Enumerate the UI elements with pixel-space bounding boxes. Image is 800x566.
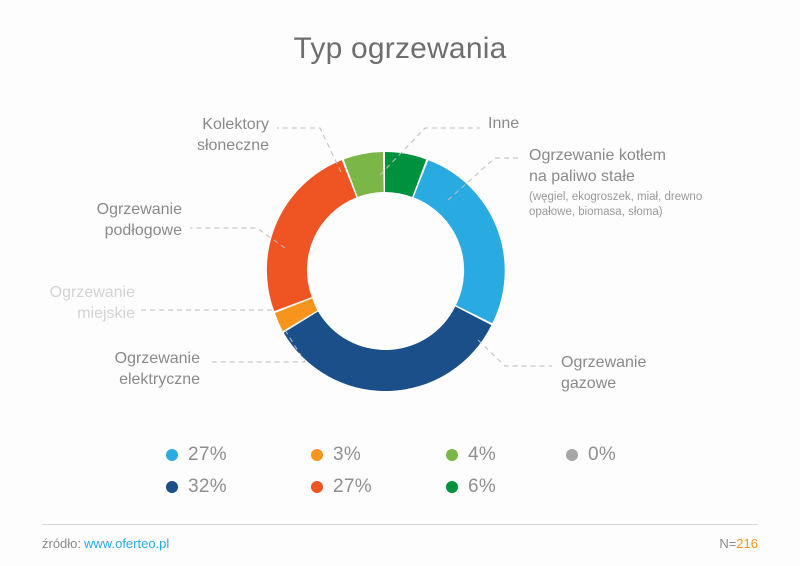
footer: źródło:www.oferteo.pl N=216 — [42, 536, 758, 551]
donut-chart — [250, 140, 520, 400]
source-label: źródło: — [42, 536, 81, 551]
callout-gazowe-line1: Ogrzewanie — [561, 354, 646, 371]
legend-value: 27% — [333, 476, 372, 498]
legend: 27% 32% 3% 27% 4% 6% 0% — [166, 444, 636, 506]
sample-size-label: N= — [719, 536, 736, 551]
slice-podlogowe[interactable] — [267, 160, 357, 311]
footer-divider — [42, 524, 758, 525]
legend-item-0[interactable]: 27% — [166, 444, 227, 466]
legend-value: 4% — [468, 444, 496, 466]
legend-item-6[interactable]: 0% — [566, 444, 616, 466]
legend-item-3[interactable]: 27% — [311, 476, 372, 498]
slice-kotlem-paliwo-stale[interactable] — [414, 160, 505, 323]
callout-kolektory-line2: słoneczne — [197, 137, 269, 154]
legend-value: 27% — [188, 444, 227, 466]
callout-podlogowe-line2: podłogowe — [105, 222, 182, 239]
legend-item-1[interactable]: 32% — [166, 476, 227, 498]
legend-item-2[interactable]: 3% — [311, 444, 361, 466]
legend-dot-icon — [311, 481, 323, 493]
callout-kolektory-line1: Kolektory — [202, 116, 269, 133]
legend-dot-icon — [166, 449, 178, 461]
legend-dot-icon — [446, 449, 458, 461]
legend-dot-icon — [446, 481, 458, 493]
callout-kotlem-line1: Ogrzewanie kotłem — [529, 147, 666, 164]
legend-value: 0% — [588, 444, 616, 466]
donut-svg — [250, 140, 520, 400]
callout-kotlem-paliwo-stale: Ogrzewanie kotłem na paliwo stałe (węgie… — [529, 145, 702, 220]
callout-elektryczne-line1: Ogrzewanie — [115, 350, 200, 367]
legend-item-4[interactable]: 4% — [446, 444, 496, 466]
callout-inne-line1: Inne — [488, 115, 519, 132]
callout-kotlem-sub1: (węgiel, ekogroszek, miał, drewno — [529, 190, 702, 205]
legend-value: 3% — [333, 444, 361, 466]
callout-kotlem-line2: na paliwo stałe — [529, 168, 635, 185]
callout-kolektory-sloneczne: Kolektory słoneczne — [0, 114, 269, 156]
callout-miejskie-line2: miejskie — [77, 305, 135, 322]
callout-kotlem-sub2: opałowe, biomasa, słoma) — [529, 205, 702, 220]
callout-miejskie: Ogrzewanie miejskie — [0, 282, 135, 324]
callout-gazowe-line2: gazowe — [561, 375, 616, 392]
callout-elektryczne-line2: elektryczne — [119, 371, 200, 388]
sample-size: N=216 — [719, 536, 758, 551]
callout-podlogowe: Ogrzewanie podłogowe — [0, 199, 182, 241]
callout-gazowe: Ogrzewanie gazowe — [561, 352, 646, 394]
legend-dot-icon — [566, 449, 578, 461]
legend-dot-icon — [166, 481, 178, 493]
page-title: Typ ogrzewania — [0, 32, 800, 66]
source-link[interactable]: www.oferteo.pl — [84, 536, 169, 551]
sample-size-value: 216 — [736, 536, 758, 551]
chart-canvas: Typ ogrzewania — [0, 0, 800, 566]
legend-value: 32% — [188, 476, 227, 498]
callout-podlogowe-line1: Ogrzewanie — [97, 201, 182, 218]
legend-item-5[interactable]: 6% — [446, 476, 496, 498]
callout-inne: Inne — [488, 113, 519, 134]
callout-elektryczne: Ogrzewanie elektryczne — [0, 348, 200, 390]
legend-dot-icon — [311, 449, 323, 461]
slice-gazowe[interactable] — [284, 306, 492, 391]
callout-miejskie-line1: Ogrzewanie — [50, 284, 135, 301]
legend-value: 6% — [468, 476, 496, 498]
